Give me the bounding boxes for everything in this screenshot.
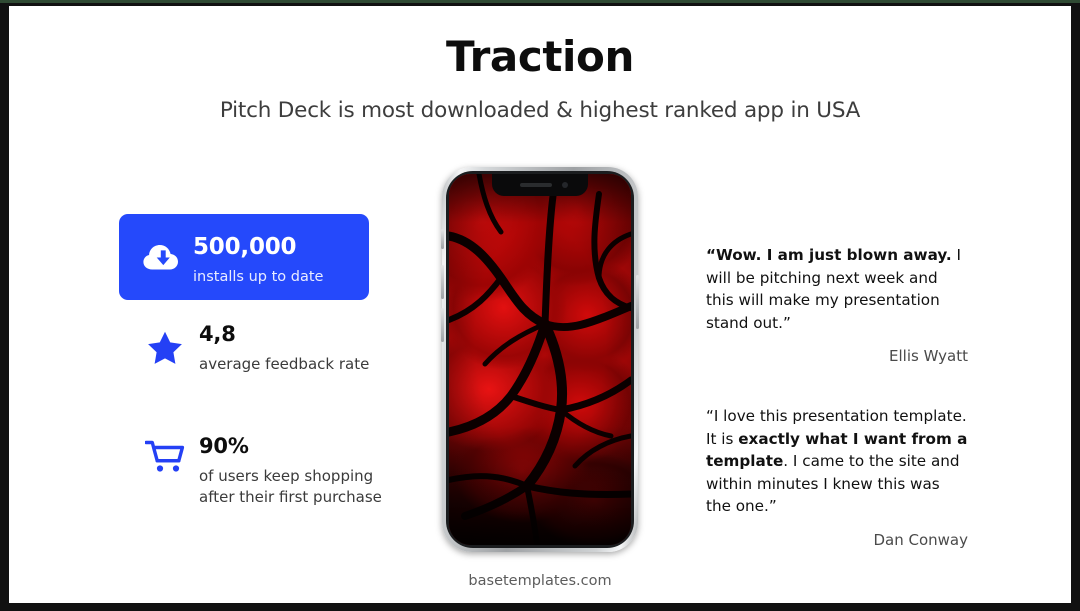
phone-notch <box>492 174 588 196</box>
slide-outer-frame: Traction Pitch Deck is most downloaded &… <box>0 0 1080 611</box>
front-camera-icon <box>562 182 568 188</box>
phone-mockup <box>442 167 638 552</box>
stats-column: 500,000 installs up to date 4,8 average … <box>119 214 389 514</box>
testimonial-text: “I love this presentation template. It i… <box>706 405 968 518</box>
testimonial-2: “I love this presentation template. It i… <box>706 405 968 549</box>
phone-power-button <box>636 275 639 329</box>
stat-label-line2: after their first purchase <box>199 488 382 506</box>
testimonial-1: “Wow. I am just blown away. I will be pi… <box>706 244 968 365</box>
stat-card-installs[interactable]: 500,000 installs up to date <box>119 214 369 300</box>
phone-mute-switch <box>441 229 444 249</box>
page-title: Traction <box>9 32 1071 81</box>
speaker-grille-icon <box>520 183 552 187</box>
star-icon <box>147 330 183 366</box>
testimonial-author: Dan Conway <box>706 531 968 549</box>
screen-vignette <box>449 174 631 545</box>
testimonial-open-quote: “ <box>706 246 716 264</box>
stat-label: installs up to date <box>193 269 323 285</box>
page-subtitle: Pitch Deck is most downloaded & highest … <box>9 98 1071 123</box>
presentation-slide: Traction Pitch Deck is most downloaded &… <box>9 6 1071 603</box>
testimonial-text: “Wow. I am just blown away. I will be pi… <box>706 244 968 334</box>
stat-value: 4,8 <box>199 322 236 346</box>
testimonial-open-quote: “ <box>706 407 714 425</box>
testimonial-bold-part: Wow. I am just blown away. <box>716 246 952 264</box>
stat-label-line1: of users keep shopping <box>199 467 373 485</box>
stat-label: average feedback rate <box>199 354 409 375</box>
testimonials-column: “Wow. I am just blown away. I will be pi… <box>706 244 968 549</box>
shopping-cart-icon <box>145 440 185 474</box>
stat-value: 500,000 <box>193 234 296 260</box>
testimonial-author: Ellis Wyatt <box>706 347 968 365</box>
footer-credit: basetemplates.com <box>9 573 1071 589</box>
cloud-download-icon <box>143 242 179 272</box>
stat-row-retention[interactable]: 90% of users keep shopping after their f… <box>119 434 389 514</box>
phone-volume-up-button <box>441 265 444 299</box>
stat-value: 90% <box>199 434 249 458</box>
phone-volume-down-button <box>441 308 444 342</box>
stat-row-rating[interactable]: 4,8 average feedback rate <box>119 322 389 402</box>
phone-screen <box>449 174 631 545</box>
stat-label: of users keep shopping after their first… <box>199 466 409 508</box>
